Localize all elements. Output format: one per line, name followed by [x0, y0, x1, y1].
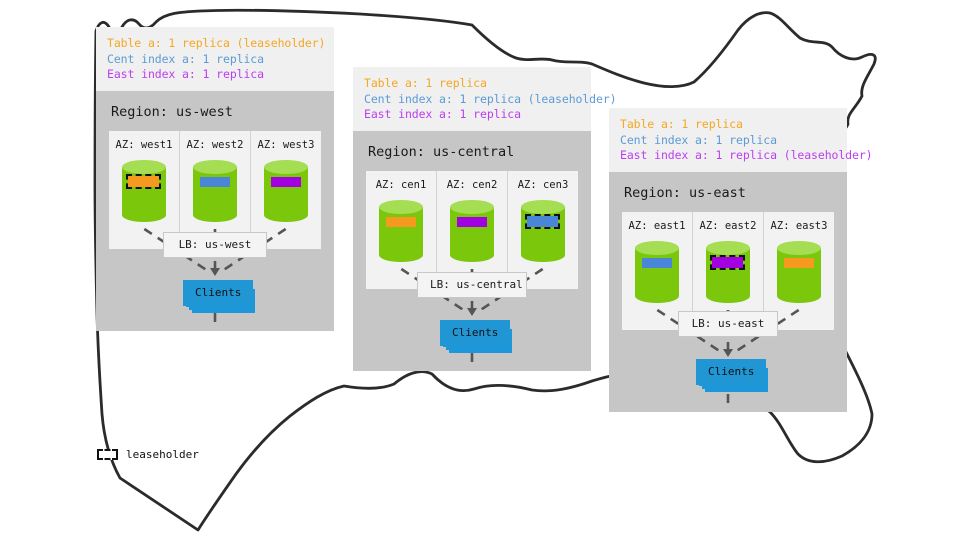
cylinder-body [450, 207, 494, 255]
replica-chip [784, 258, 814, 268]
az-label: AZ: east3 [771, 220, 828, 232]
load-balancer-us-west[interactable]: LB: us-west [163, 232, 267, 258]
cylinder-top [122, 160, 166, 174]
database-node-icon [635, 241, 679, 303]
legend: leaseholder [97, 448, 199, 461]
clients-label: Clients [696, 359, 766, 385]
cylinder-body [777, 248, 821, 296]
cylinder-body [264, 167, 308, 215]
database-node-icon [450, 200, 494, 262]
az-label: AZ: cen1 [376, 179, 427, 191]
database-node-icon [777, 241, 821, 303]
replica-line-table: Table a: 1 replica (leaseholder) [107, 36, 323, 52]
clients-us-central[interactable]: Clients [440, 320, 510, 346]
clients-us-west[interactable]: Clients [183, 280, 253, 306]
load-balancer-us-east[interactable]: LB: us-east [678, 311, 778, 337]
cylinder-body [635, 248, 679, 296]
replica-chip-leaseholder [527, 216, 558, 227]
replica-line-east: East index a: 1 replica [107, 67, 323, 83]
database-node-icon [706, 241, 750, 303]
database-node-icon [122, 160, 166, 222]
database-node-icon [521, 200, 565, 262]
az-label: AZ: west1 [116, 139, 173, 151]
az-label: AZ: east2 [700, 220, 757, 232]
az-cen1: AZ: cen1 [366, 171, 437, 289]
replica-chip-leaseholder [712, 257, 743, 268]
az-west3: AZ: west3 [251, 131, 321, 249]
cylinder-body [379, 207, 423, 255]
cylinder-top [379, 200, 423, 214]
az-row-us-central: AZ: cen1AZ: cen2AZ: cen3 [366, 171, 578, 289]
replica-chip [200, 177, 230, 187]
cylinder-top [706, 241, 750, 255]
az-label: AZ: west2 [187, 139, 244, 151]
az-label: AZ: east1 [629, 220, 686, 232]
replica-summary-us-central: Table a: 1 replicaCent index a: 1 replic… [353, 67, 591, 131]
region-title-us-west: Region: us-west [96, 91, 334, 131]
replica-summary-us-west: Table a: 1 replica (leaseholder)Cent ind… [96, 27, 334, 91]
cylinder-body [521, 207, 565, 255]
region-title-us-central: Region: us-central [353, 131, 591, 171]
database-node-icon [264, 160, 308, 222]
region-title-us-east: Region: us-east [609, 172, 847, 212]
cylinder-top [450, 200, 494, 214]
database-node-icon [193, 160, 237, 222]
cylinder-body [193, 167, 237, 215]
replica-line-cent: Cent index a: 1 replica [620, 133, 836, 149]
clients-us-east[interactable]: Clients [696, 359, 766, 385]
cylinder-top [777, 241, 821, 255]
replica-line-cent: Cent index a: 1 replica [107, 52, 323, 68]
az-west1: AZ: west1 [109, 131, 180, 249]
replica-chip [271, 177, 301, 187]
load-balancer-us-central[interactable]: LB: us-central [417, 272, 527, 298]
replica-summary-us-east: Table a: 1 replicaCent index a: 1 replic… [609, 108, 847, 172]
cylinder-body [706, 248, 750, 296]
az-row-us-west: AZ: west1AZ: west2AZ: west3 [109, 131, 321, 249]
cylinder-top [521, 200, 565, 214]
replica-chip [386, 217, 416, 227]
az-label: AZ: cen2 [447, 179, 498, 191]
database-node-icon [379, 200, 423, 262]
legend-label: leaseholder [126, 448, 199, 461]
replica-chip [642, 258, 672, 268]
az-west2: AZ: west2 [180, 131, 251, 249]
clients-label: Clients [440, 320, 510, 346]
replica-line-table: Table a: 1 replica [620, 117, 836, 133]
cylinder-top [635, 241, 679, 255]
az-label: AZ: west3 [258, 139, 315, 151]
cylinder-body [122, 167, 166, 215]
cylinder-top [264, 160, 308, 174]
cylinder-top [193, 160, 237, 174]
replica-line-east: East index a: 1 replica (leaseholder) [620, 148, 836, 164]
az-label: AZ: cen3 [518, 179, 569, 191]
az-cen3: AZ: cen3 [508, 171, 578, 289]
leaseholder-swatch-icon [97, 449, 118, 460]
replica-line-table: Table a: 1 replica [364, 76, 580, 92]
replica-chip-leaseholder [128, 176, 159, 187]
replica-line-cent: Cent index a: 1 replica (leaseholder) [364, 92, 580, 108]
clients-label: Clients [183, 280, 253, 306]
replica-chip [457, 217, 487, 227]
az-cen2: AZ: cen2 [437, 171, 508, 289]
replica-line-east: East index a: 1 replica [364, 107, 580, 123]
